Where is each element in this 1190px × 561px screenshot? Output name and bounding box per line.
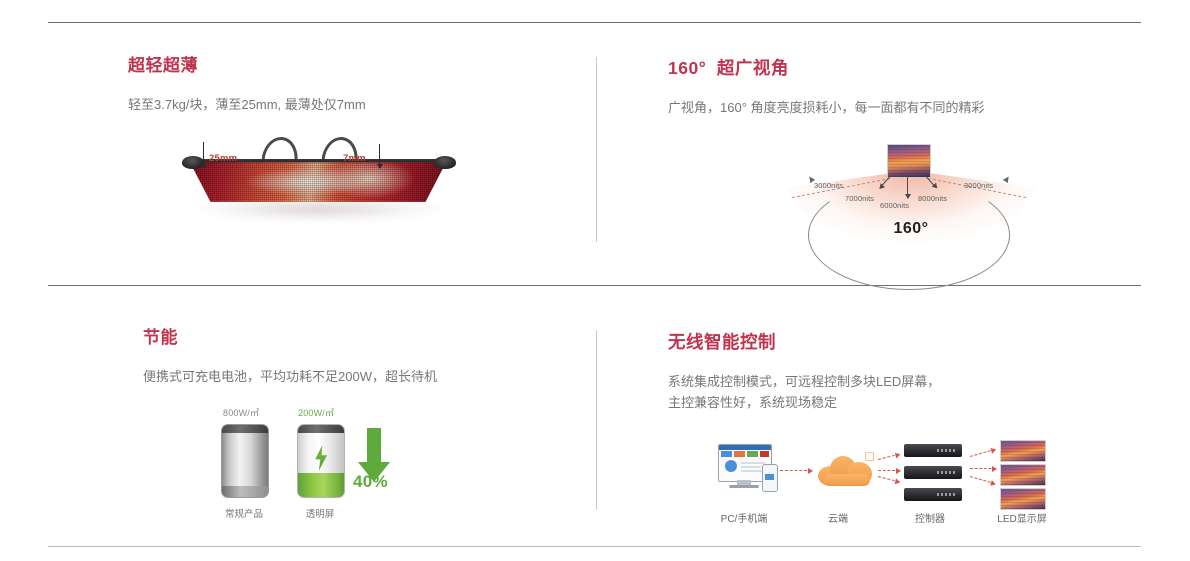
- panel-title-wireless-control: 无线智能控制: [668, 332, 1118, 353]
- panel-desc-viewing-angle: 广视角，160° 角度亮度损耗小，每一面都有不同的精彩: [668, 97, 1118, 118]
- lightning-bolt-icon: [313, 445, 329, 471]
- monitor-base: [729, 485, 759, 488]
- panel-title-energy-saving: 节能: [143, 328, 573, 348]
- screen-tile: [734, 451, 745, 457]
- connector-controller-to-led: [970, 468, 996, 469]
- connector-cloud-to-controller: [878, 454, 900, 460]
- panel-title-viewing-angle: 160° 超广视角: [668, 58, 1118, 79]
- divider-vertical-row2: [596, 330, 597, 510]
- led-display-icon: [1000, 440, 1046, 462]
- battery-icon-conventional: [221, 424, 269, 498]
- computer-monitor-icon: [718, 444, 774, 488]
- nits-label: 6000nits: [880, 201, 909, 210]
- battery-cap: [222, 425, 268, 433]
- battery-cap: [298, 425, 344, 433]
- screen-disc: [725, 460, 737, 472]
- feature-panel-viewing-angle: 160° 超广视角 广视角，160° 角度亮度损耗小，每一面都有不同的精彩 30…: [668, 58, 1118, 251]
- diagram-node-label-pc: PC/手机端: [704, 510, 784, 525]
- screen-tile: [747, 451, 758, 457]
- angle-value-label: 160°: [786, 220, 1036, 238]
- power-label-conventional: 800W/㎡: [223, 406, 259, 419]
- nits-label: 7000nits: [845, 194, 874, 203]
- led-panel-illustration: 25mm 7mm: [176, 134, 476, 244]
- dimension-arrow-left: [203, 142, 204, 168]
- screen-text-line: [741, 462, 765, 464]
- panel-desc-ultra-thin: 轻至3.7kg/块，薄至25mm, 最薄处仅7mm: [128, 94, 568, 115]
- battery-charge-level: [298, 473, 344, 497]
- divider-top: [48, 22, 1141, 23]
- divider-bottom: [48, 546, 1141, 547]
- screen-text-line: [741, 466, 761, 468]
- panel-desc-wireless-control: 系统集成控制模式，可远程控制多块LED屏幕， 主控兼容性好，系统现场稳定: [668, 371, 1118, 414]
- energy-comparison-illustration: 800W/㎡ 200W/㎡ 常规产品 透明屏 40%: [205, 406, 505, 526]
- battery-caption-transparent: 透明屏: [290, 506, 350, 520]
- feature-panel-ultra-thin: 超轻超薄 轻至3.7kg/块，薄至25mm, 最薄处仅7mm 25mm 7mm: [128, 56, 568, 244]
- cloud-base: [824, 474, 870, 486]
- dimension-label-thickness-min: 7mm: [343, 153, 366, 164]
- dimension-arrow-right: [379, 144, 380, 168]
- screen-tile: [721, 451, 732, 457]
- nits-label: 3000nits: [814, 181, 843, 190]
- controller-unit-icon: [904, 488, 962, 501]
- controller-unit-icon: [904, 444, 962, 457]
- led-screen-icon: [887, 144, 931, 178]
- dimension-label-thickness-max: 25mm: [209, 153, 237, 164]
- nits-label: 3000nits: [964, 181, 993, 190]
- connector-cloud-to-controller: [878, 470, 900, 471]
- cloud-accent-square: [865, 452, 874, 461]
- control-system-diagram: PC/手机端 云端 控制器 LED显示屏: [690, 432, 1070, 527]
- screen-tile: [760, 451, 769, 457]
- led-display-icon: [1000, 464, 1046, 486]
- diagram-node-label-cloud: 云端: [808, 510, 868, 525]
- connector-controller-to-led: [970, 476, 995, 484]
- battery-icon-transparent: [297, 424, 345, 498]
- connector-pc-to-cloud: [780, 470, 812, 471]
- brightness-ray-center: [907, 176, 908, 198]
- down-arrow-icon: [367, 428, 381, 462]
- screen-topbar: [719, 445, 771, 450]
- reduction-percentage-label: 40%: [353, 472, 388, 492]
- led-display-icon: [1000, 488, 1046, 510]
- arc-arrow-right: [1003, 175, 1011, 183]
- feature-panel-energy-saving: 节能 便携式可充电电池，平均功耗不足200W，超长待机 800W/㎡ 200W/…: [143, 328, 573, 526]
- divider-vertical-row1: [596, 57, 597, 242]
- connector-controller-to-led: [970, 449, 995, 457]
- panel-title-ultra-thin: 超轻超薄: [128, 56, 568, 76]
- feature-panel-wireless-control: 无线智能控制 系统集成控制模式，可远程控制多块LED屏幕， 主控兼容性好，系统现…: [668, 332, 1118, 527]
- diagram-node-label-controller: 控制器: [900, 510, 960, 525]
- cloud-icon: [818, 452, 874, 486]
- diagram-node-label-led: LED显示屏: [982, 510, 1062, 525]
- smartphone-icon: [762, 464, 778, 492]
- panel-display-surface: [190, 160, 446, 202]
- power-label-transparent: 200W/㎡: [298, 406, 334, 419]
- panel-mount-right: [434, 156, 456, 169]
- controller-unit-icon: [904, 466, 962, 479]
- panel-desc-energy-saving: 便携式可充电电池，平均功耗不足200W，超长待机: [143, 366, 573, 387]
- nits-label: 8000nits: [918, 194, 947, 203]
- battery-caption-conventional: 常规产品: [214, 506, 274, 520]
- divider-middle: [48, 285, 1141, 286]
- viewing-angle-illustration: 3000nits 7000nits 6000nits 8000nits 3000…: [786, 136, 1036, 251]
- connector-cloud-to-controller: [878, 476, 900, 482]
